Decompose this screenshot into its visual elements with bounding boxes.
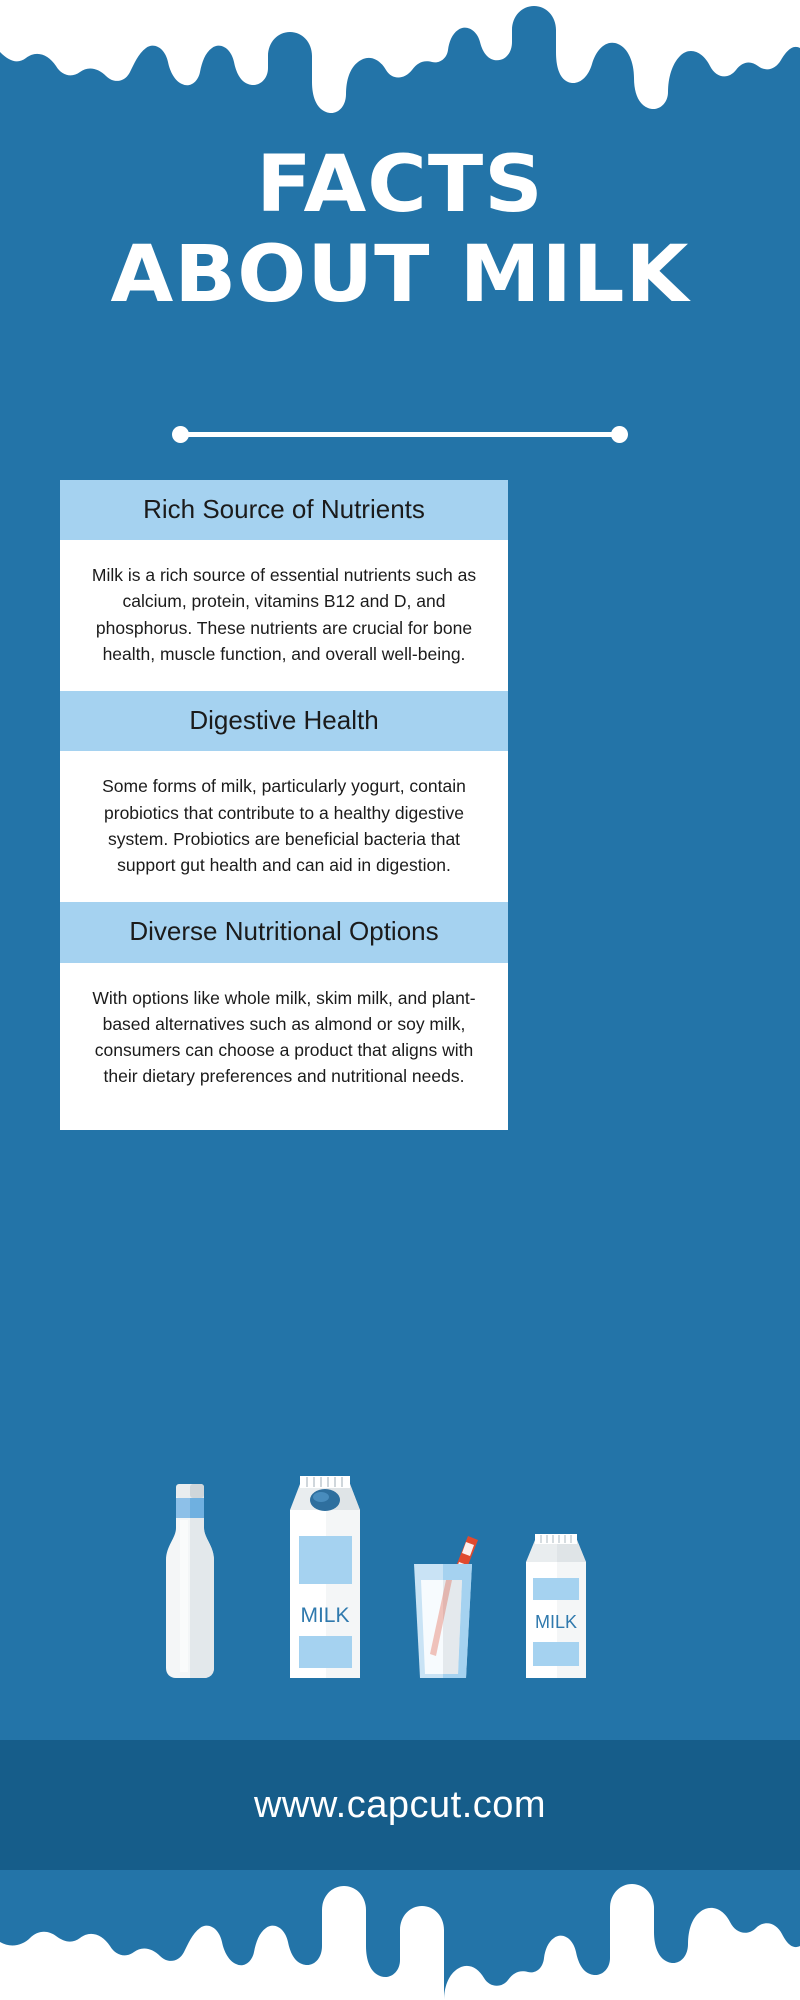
milk-carton-small-icon: MILK [526,1534,586,1678]
title-divider [172,424,628,444]
carton-large-label: MILK [300,1604,349,1627]
divider-bar [180,432,620,437]
section-body-digestive: Some forms of milk, particularly yogurt,… [60,751,508,902]
section-body-nutrients: Milk is a rich source of essential nutri… [60,540,508,691]
milk-carton-large-icon: MILK [290,1476,360,1678]
title-line-1: FACTS [0,140,800,230]
infographic-poster: FACTS ABOUT MILK Rich Source of Nutrient… [0,0,800,2000]
section-heading-digestive: Digestive Health [60,691,508,751]
title-line-2: ABOUT MILK [0,230,800,320]
footer-url[interactable]: www.capcut.com [254,1784,546,1827]
section-body-options: With options like whole milk, skim milk,… [60,963,508,1130]
milk-drip-top-decoration [0,0,800,130]
divider-dot-right [611,426,628,443]
divider-dot-left [172,426,189,443]
section-heading-options: Diverse Nutritional Options [60,902,508,962]
facts-card: Rich Source of Nutrients Milk is a rich … [60,480,508,1130]
section-heading-nutrients: Rich Source of Nutrients [60,480,508,540]
milk-drip-bottom-decoration [0,1850,800,2000]
milk-bottle-icon [166,1484,214,1678]
carton-small-label: MILK [535,1612,577,1632]
poster-title: FACTS ABOUT MILK [0,140,800,321]
milk-products-illustration: MILK [0,1440,800,1740]
milk-glass-with-straw-icon [414,1536,478,1678]
